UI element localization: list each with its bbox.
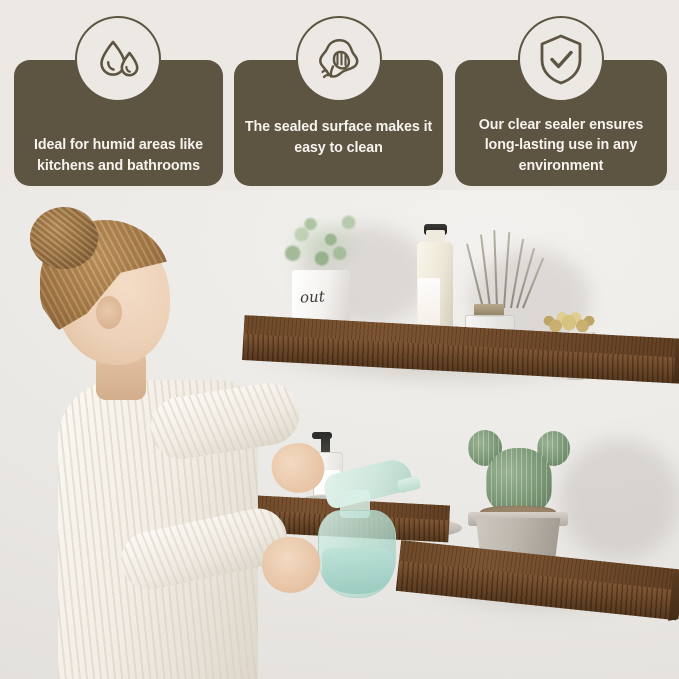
feature-card-text: Our clear sealer ensures long-lasting us… <box>463 115 659 176</box>
water-drops-icon <box>75 16 161 102</box>
child-hair-bun <box>30 207 98 269</box>
child-ear <box>96 296 122 329</box>
product-photo-scene: out <box>0 190 679 679</box>
cactus-wall-shadow <box>560 440 679 560</box>
hand-wiping-cloth-icon <box>296 16 382 102</box>
spray-bottle-liquid <box>322 548 392 594</box>
feature-card-text: The sealed surface makes it easy to clea… <box>242 117 435 176</box>
child-figure <box>0 190 300 679</box>
soap-pump-stem <box>321 433 330 453</box>
pot-script-label: out <box>300 287 326 306</box>
bottle-label <box>418 278 440 330</box>
mouse-cactus-body <box>486 448 552 514</box>
infographic-canvas: Ideal for humid areas like kitchens and … <box>0 0 679 679</box>
feature-cards-row: Ideal for humid areas like kitchens and … <box>0 0 679 200</box>
shield-check-icon <box>518 16 604 102</box>
feature-card-text: Ideal for humid areas like kitchens and … <box>22 135 215 176</box>
